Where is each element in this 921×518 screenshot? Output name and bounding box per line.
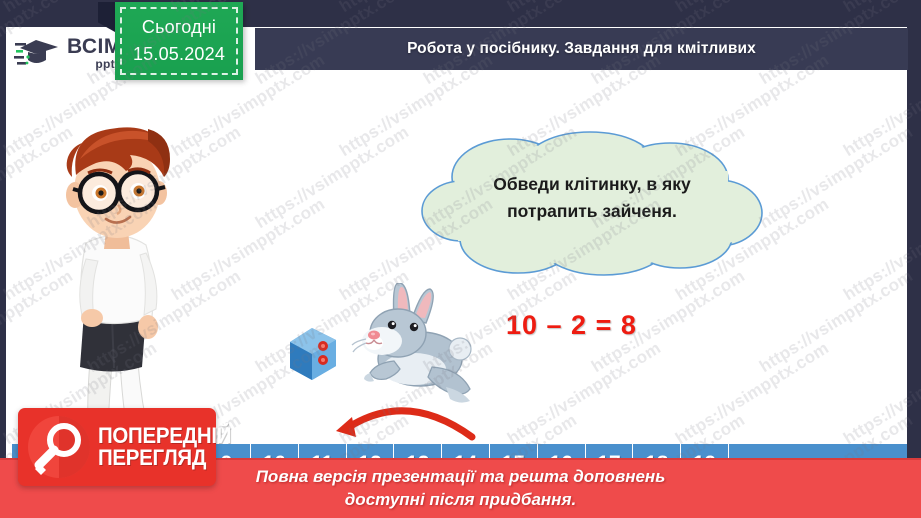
logo-name: ВСІМ (67, 36, 122, 57)
preview-badge-text: ПОПЕРЕДНІЙ ПЕРЕГЛЯД (98, 425, 241, 470)
equation-text: 10 – 2 = 8 (506, 310, 637, 341)
date-badge-label: Сьогодні (142, 14, 216, 41)
cloud-text-line2: потрапить зайченя. (456, 198, 728, 225)
slide-header-bar: Робота у посібнику. Завдання для кмітлив… (255, 28, 908, 70)
speech-cloud-callout: Обведи клітинку, в яку потрапить зайченя… (418, 129, 766, 277)
page-title: Робота у посібнику. Завдання для кмітлив… (407, 40, 756, 58)
banner-line1: Повна версія презентації та решта доповн… (256, 466, 666, 489)
graduation-cap-icon (14, 36, 62, 70)
date-badge: Сьогодні 15.05.2024 (115, 2, 243, 80)
preview-badge-line2: ПЕРЕГЛЯД (98, 447, 231, 469)
magnifier-icon (26, 414, 92, 480)
slide-viewer: Обведи клітинку, в яку потрапить зайченя… (0, 0, 921, 518)
red-jump-arc-arrow (328, 397, 480, 441)
cloud-instruction-text: Обведи клітинку, в яку потрапить зайченя… (456, 171, 728, 225)
preview-badge[interactable]: ПОПЕРЕДНІЙ ПЕРЕГЛЯД (18, 408, 216, 486)
logo-wordmark: ВСІМ pptx (67, 36, 122, 70)
preview-badge-line1: ПОПЕРЕДНІЙ (98, 425, 231, 447)
logo-suffix: pptx (67, 58, 122, 70)
date-badge-value: 15.05.2024 (133, 41, 225, 68)
cloud-text-line1: Обведи клітинку, в яку (456, 171, 728, 198)
boy-character-illustration (28, 113, 198, 443)
blue-dice-two-pips-icon (282, 322, 344, 384)
banner-line2: доступні після придбання. (345, 489, 576, 512)
jumping-bunny-illustration (336, 283, 476, 413)
